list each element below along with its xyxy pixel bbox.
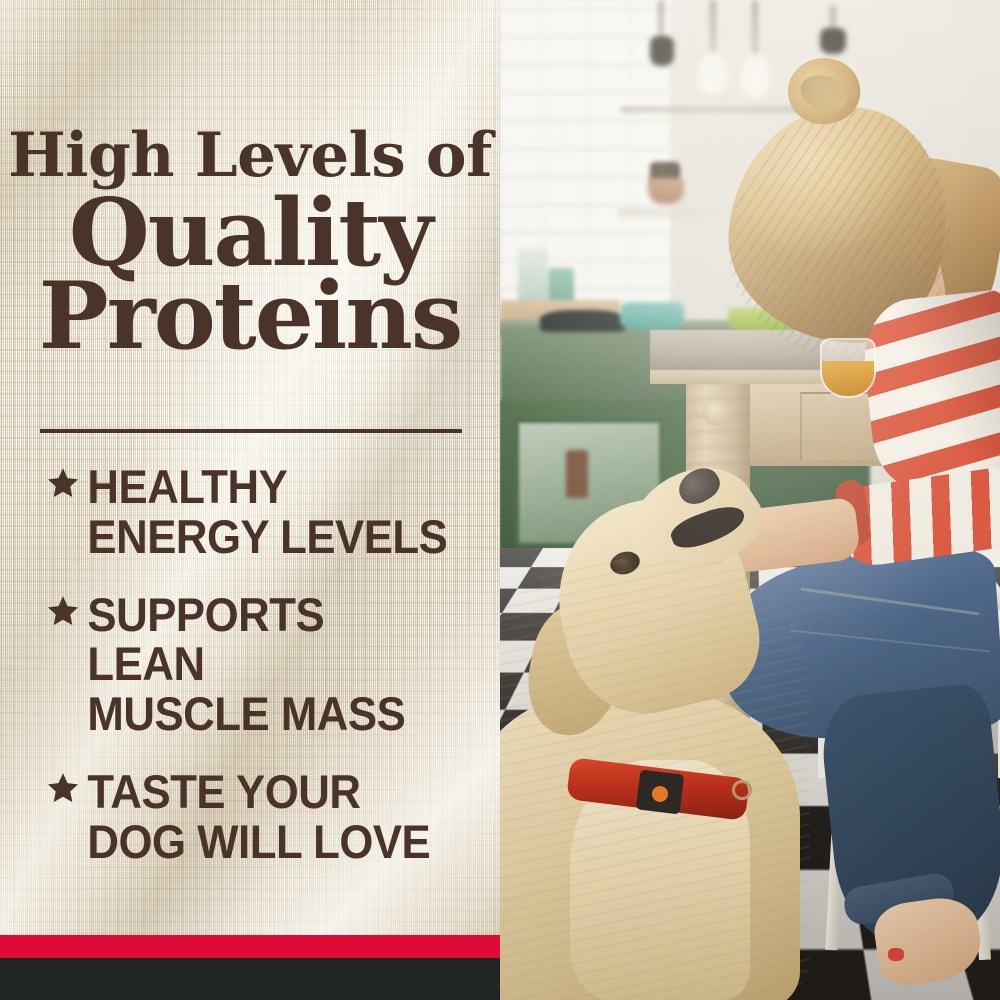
headline-line-1: High Levels of — [0, 126, 500, 186]
drink-glass — [820, 338, 876, 398]
painted-toenail — [888, 948, 904, 961]
accent-bar-dark — [0, 958, 500, 1000]
product-benefit-banner: High Levels of Quality Proteins HEALTHY … — [0, 0, 1000, 1000]
dark-pot — [540, 310, 626, 332]
amber-drink — [822, 361, 874, 396]
headline-divider-rule — [40, 429, 462, 433]
dog-collar-ring — [732, 780, 752, 800]
woman-striped-sweater — [858, 289, 1000, 494]
lifestyle-photo-panel — [500, 0, 1000, 1000]
benefit-label: TASTE YOUR DOG WILL LOVE — [0, 767, 465, 867]
left-panel-content: High Levels of Quality Proteins HEALTHY … — [0, 0, 500, 935]
headline-line-3: Proteins — [0, 271, 500, 360]
headline-block: High Levels of Quality Proteins — [0, 126, 500, 360]
benefit-label: SUPPORTS LEAN MUSCLE MASS — [0, 590, 465, 739]
benefit-item-lean-muscle: SUPPORTS LEAN MUSCLE MASS — [0, 590, 500, 739]
copper-cup — [648, 178, 684, 204]
cabinet-contents — [566, 450, 588, 498]
sweater-shading — [858, 289, 1000, 494]
teal-bowl — [620, 302, 684, 330]
benefit-item-healthy-energy: HEALTHY ENERGY LEVELS — [0, 462, 500, 562]
utensil-rail — [620, 106, 805, 113]
benefit-label: HEALTHY ENERGY LEVELS — [0, 462, 465, 562]
left-text-panel: High Levels of Quality Proteins HEALTHY … — [0, 0, 500, 1000]
benefit-item-taste: TASTE YOUR DOG WILL LOVE — [0, 767, 500, 867]
accent-bar-red — [0, 935, 500, 958]
table-leg-knob — [702, 400, 732, 426]
benefits-list: HEALTHY ENERGY LEVELS SUPPORTS LEAN MUSC… — [0, 462, 500, 895]
kitchen-scene — [500, 0, 1000, 1000]
